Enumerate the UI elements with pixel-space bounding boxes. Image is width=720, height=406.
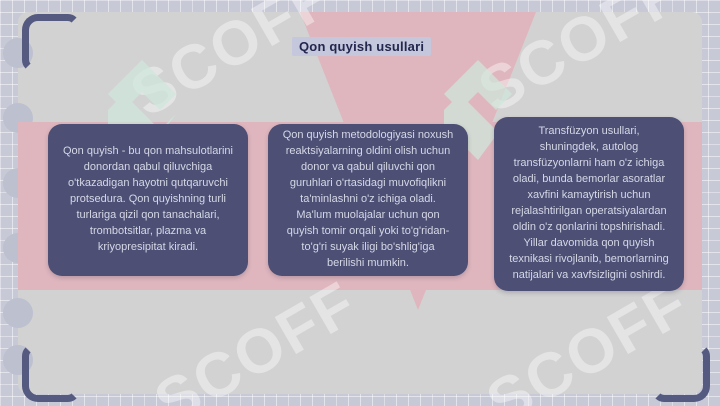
card-body-text: Qon quyish metodologiyasi noxush reaktsi… [282, 128, 454, 271]
corner-bracket-bottom-left [22, 344, 80, 402]
content-card: Transfüzyon usullari, shuningdek, autolo… [494, 117, 684, 291]
puzzle-bump-icon [3, 298, 33, 328]
content-card: Qon quyish - bu qon mahsulotlarini donor… [48, 124, 248, 276]
corner-bracket-bottom-right [652, 344, 710, 402]
card-body-text: Transfüzyon usullari, shuningdek, autolo… [508, 124, 670, 283]
content-card: Qon quyish metodologiyasi noxush reaktsi… [268, 124, 468, 276]
slide-canvas: SCOFF SCOFF SCOFF SCOFF Qon quyish usull… [0, 0, 720, 406]
corner-bracket-top-left [22, 14, 80, 72]
card-body-text: Qon quyish - bu qon mahsulotlarini donor… [62, 144, 234, 256]
slide-title: Qon quyish usullari [292, 37, 431, 56]
